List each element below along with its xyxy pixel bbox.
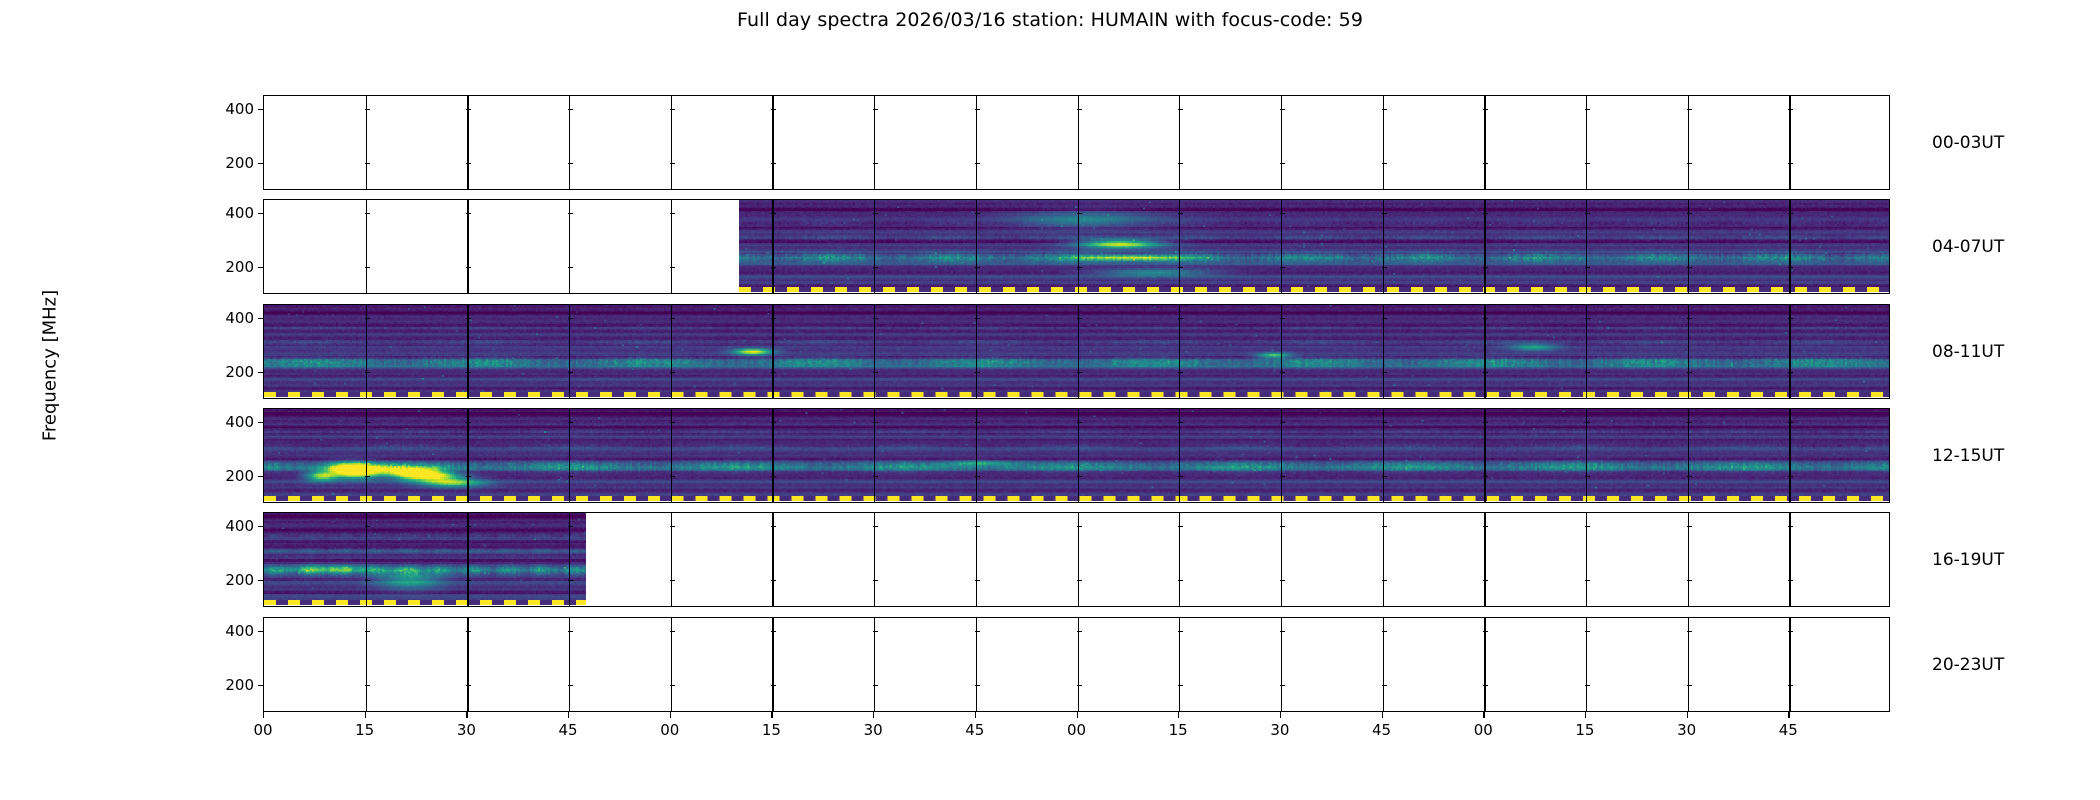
- y-tick-mark: [258, 213, 263, 214]
- x-tick-label: 30: [1677, 721, 1696, 739]
- y-tick-mark-interior: [1280, 267, 1285, 268]
- y-tick-mark-interior: [1178, 163, 1183, 164]
- subplot-divider: [976, 513, 977, 606]
- y-tick-mark-interior: [1687, 213, 1692, 214]
- subplot-divider: [772, 513, 773, 606]
- y-tick-mark-interior: [670, 213, 675, 214]
- y-tick-mark: [258, 631, 263, 632]
- y-tick-mark-interior: [1585, 109, 1590, 110]
- subplot-divider: [467, 200, 468, 293]
- subplot-divider: [1383, 200, 1384, 293]
- y-tick-mark-interior: [568, 685, 573, 686]
- y-tick-mark-interior: [568, 476, 573, 477]
- subplot-divider: [1179, 200, 1180, 293]
- y-tick-mark-interior: [1077, 422, 1082, 423]
- y-tick-mark-interior: [873, 267, 878, 268]
- subplot-divider: [1179, 513, 1180, 606]
- y-tick-mark-interior: [1178, 422, 1183, 423]
- y-tick-mark-interior: [1585, 631, 1590, 632]
- y-tick-mark-interior: [1382, 267, 1387, 268]
- y-tick-mark-interior: [365, 163, 370, 164]
- subplot-divider: [1586, 96, 1587, 189]
- y-tick-mark-interior: [1788, 685, 1793, 686]
- subplot-divider: [569, 618, 570, 711]
- y-tick-mark-interior: [1280, 476, 1285, 477]
- y-tick-mark-interior: [1382, 685, 1387, 686]
- y-tick-label: 400: [194, 517, 263, 535]
- x-tick-label: 45: [1372, 721, 1391, 739]
- y-tick-mark: [258, 318, 263, 319]
- y-tick-mark-interior: [1483, 372, 1488, 373]
- y-tick-mark-interior: [1788, 526, 1793, 527]
- subplot-divider: [1281, 513, 1282, 606]
- y-tick-mark-interior: [1382, 476, 1387, 477]
- y-tick-mark-interior: [1687, 163, 1692, 164]
- x-tick-mark: [263, 712, 264, 718]
- y-tick-mark-interior: [1382, 631, 1387, 632]
- subplot-divider: [772, 305, 773, 398]
- y-tick-mark-interior: [873, 476, 878, 477]
- subplot-divider: [1179, 96, 1180, 189]
- x-tick-mark: [1788, 712, 1789, 718]
- y-tick-mark-interior: [1585, 526, 1590, 527]
- y-tick-mark-interior: [975, 422, 980, 423]
- subplot-divider: [874, 200, 875, 293]
- subplot-divider: [366, 305, 367, 398]
- y-tick-mark-interior: [1280, 163, 1285, 164]
- subplot-divider: [1281, 618, 1282, 711]
- x-tick-label: 00: [253, 721, 272, 739]
- y-tick-mark-interior: [771, 685, 776, 686]
- y-tick-mark-interior: [771, 372, 776, 373]
- y-tick-mark-interior: [1788, 580, 1793, 581]
- subplot-divider: [1078, 305, 1079, 398]
- y-tick-mark-interior: [873, 526, 878, 527]
- y-tick-mark-interior: [1483, 631, 1488, 632]
- y-tick-mark: [258, 109, 263, 110]
- y-tick-mark-interior: [1585, 372, 1590, 373]
- y-tick-mark: [258, 580, 263, 581]
- subplot-divider: [1586, 305, 1587, 398]
- subplot-divider: [1179, 305, 1180, 398]
- y-tick-label: 400: [194, 309, 263, 327]
- y-tick-mark-interior: [1280, 580, 1285, 581]
- y-tick-mark-interior: [568, 163, 573, 164]
- y-tick-mark-interior: [771, 213, 776, 214]
- subplot-divider: [366, 200, 367, 293]
- y-tick-mark-interior: [365, 372, 370, 373]
- y-tick-mark-interior: [1280, 685, 1285, 686]
- x-tick-mark: [568, 712, 569, 718]
- y-tick-mark-interior: [1382, 526, 1387, 527]
- spectrogram-image: [264, 513, 586, 605]
- y-tick-mark-interior: [1585, 318, 1590, 319]
- y-tick-mark-interior: [1382, 213, 1387, 214]
- subplot-divider: [671, 618, 672, 711]
- y-tick-mark-interior: [365, 267, 370, 268]
- y-tick-mark-interior: [1280, 631, 1285, 632]
- y-tick-mark-interior: [1687, 580, 1692, 581]
- x-axis: 00153045001530450015304500153045: [263, 712, 1890, 752]
- y-tick-mark: [258, 267, 263, 268]
- y-tick-mark-interior: [771, 631, 776, 632]
- y-tick-mark-interior: [1382, 422, 1387, 423]
- y-tick-mark-interior: [975, 580, 980, 581]
- y-tick-mark-interior: [1483, 422, 1488, 423]
- subplot-divider: [772, 618, 773, 711]
- subplot-divider: [569, 513, 570, 606]
- y-tick-mark-interior: [1077, 267, 1082, 268]
- subplot-divider: [1789, 96, 1790, 189]
- y-tick-mark-interior: [568, 213, 573, 214]
- y-tick-mark: [258, 476, 263, 477]
- y-tick-mark-interior: [975, 476, 980, 477]
- subplot-divider: [569, 200, 570, 293]
- y-tick-mark-interior: [771, 163, 776, 164]
- y-tick-mark-interior: [1483, 685, 1488, 686]
- y-tick-mark-interior: [1178, 213, 1183, 214]
- y-tick-mark-interior: [1687, 318, 1692, 319]
- subplot-divider: [874, 618, 875, 711]
- x-tick-label: 15: [762, 721, 781, 739]
- y-tick-mark-interior: [1687, 422, 1692, 423]
- subplot-divider: [671, 409, 672, 502]
- subplot-row-16-19ut: 20040016-19UT: [263, 512, 1890, 607]
- y-tick-mark-interior: [873, 109, 878, 110]
- y-tick-mark-interior: [1585, 422, 1590, 423]
- y-tick-mark-interior: [873, 422, 878, 423]
- y-tick-mark-interior: [466, 109, 471, 110]
- y-tick-mark-interior: [975, 267, 980, 268]
- y-tick-mark-interior: [670, 685, 675, 686]
- y-tick-mark-interior: [1178, 318, 1183, 319]
- y-tick-mark-interior: [466, 631, 471, 632]
- y-tick-mark-interior: [1382, 580, 1387, 581]
- y-tick-mark-interior: [873, 163, 878, 164]
- subplot-divider: [1484, 618, 1485, 711]
- x-tick-label: 00: [660, 721, 679, 739]
- y-tick-mark-interior: [1178, 476, 1183, 477]
- y-tick-mark-interior: [1382, 372, 1387, 373]
- y-tick-mark-interior: [568, 109, 573, 110]
- subplot-divider: [1383, 513, 1384, 606]
- subplot-divider: [467, 96, 468, 189]
- y-tick-mark-interior: [466, 318, 471, 319]
- subplot-divider: [1383, 305, 1384, 398]
- y-tick-label: 200: [194, 571, 263, 589]
- y-tick-mark-interior: [771, 422, 776, 423]
- subplot-divider: [1789, 200, 1790, 293]
- y-tick-mark-interior: [568, 318, 573, 319]
- y-tick-mark-interior: [1687, 526, 1692, 527]
- subplot-row-04-07ut: 20040004-07UT: [263, 199, 1890, 294]
- y-tick-mark-interior: [873, 213, 878, 214]
- y-tick-mark-interior: [771, 318, 776, 319]
- subplot-divider: [976, 96, 977, 189]
- subplot-divider: [366, 618, 367, 711]
- subplot-divider: [1484, 200, 1485, 293]
- y-tick-mark-interior: [466, 422, 471, 423]
- x-tick-mark: [1280, 712, 1281, 718]
- subplot-divider: [1688, 96, 1689, 189]
- subplot-divider: [671, 305, 672, 398]
- subplot-divider: [1281, 96, 1282, 189]
- subplot-divider: [1586, 200, 1587, 293]
- y-tick-mark-interior: [568, 372, 573, 373]
- y-tick-mark-interior: [1280, 422, 1285, 423]
- y-tick-mark: [258, 372, 263, 373]
- subplot-divider: [1281, 200, 1282, 293]
- x-tick-label: 30: [864, 721, 883, 739]
- y-tick-label: 400: [194, 622, 263, 640]
- y-tick-label: 200: [194, 258, 263, 276]
- y-tick-mark-interior: [466, 372, 471, 373]
- subplot-divider: [366, 513, 367, 606]
- y-tick-mark-interior: [365, 213, 370, 214]
- x-tick-mark: [1483, 712, 1484, 718]
- y-axis-label: Frequency [MHz]: [40, 246, 61, 486]
- y-tick-mark-interior: [365, 318, 370, 319]
- subplot-divider: [874, 513, 875, 606]
- y-tick-mark-interior: [670, 109, 675, 110]
- y-tick-mark-interior: [670, 631, 675, 632]
- subplot-divider: [1281, 305, 1282, 398]
- subplot-divider: [1688, 513, 1689, 606]
- x-tick-label: 45: [559, 721, 578, 739]
- y-tick-mark-interior: [1687, 267, 1692, 268]
- y-tick-mark: [258, 685, 263, 686]
- y-tick-label: 200: [194, 467, 263, 485]
- x-tick-mark: [466, 712, 467, 718]
- y-tick-mark-interior: [1585, 580, 1590, 581]
- x-tick-label: 45: [1779, 721, 1798, 739]
- y-tick-mark-interior: [1483, 476, 1488, 477]
- y-tick-mark: [258, 422, 263, 423]
- y-tick-mark-interior: [975, 163, 980, 164]
- subplot-divider: [671, 200, 672, 293]
- subplot-divider: [1078, 409, 1079, 502]
- y-tick-mark-interior: [670, 580, 675, 581]
- y-tick-mark-interior: [1585, 163, 1590, 164]
- row-time-label: 16-19UT: [1932, 550, 2004, 570]
- y-tick-mark-interior: [1382, 163, 1387, 164]
- y-tick-mark-interior: [975, 685, 980, 686]
- subplot-divider: [1484, 513, 1485, 606]
- y-tick-label: 200: [194, 676, 263, 694]
- y-tick-mark-interior: [365, 526, 370, 527]
- subplot-divider: [1688, 200, 1689, 293]
- y-tick-label: 200: [194, 154, 263, 172]
- y-tick-mark-interior: [365, 580, 370, 581]
- y-tick-mark-interior: [873, 318, 878, 319]
- row-time-label: 04-07UT: [1932, 237, 2004, 257]
- subplot-divider: [1383, 618, 1384, 711]
- y-tick-mark-interior: [1788, 476, 1793, 477]
- y-tick-mark-interior: [1178, 267, 1183, 268]
- subplot-divider: [772, 200, 773, 293]
- y-tick-mark-interior: [1077, 213, 1082, 214]
- y-tick-mark-interior: [1077, 109, 1082, 110]
- x-tick-mark: [1382, 712, 1383, 718]
- figure-title: Full day spectra 2026/03/16 station: HUM…: [0, 9, 2100, 31]
- subplot-row-08-11ut: 20040008-11UT: [263, 304, 1890, 399]
- y-tick-mark-interior: [365, 631, 370, 632]
- subplot-divider: [1789, 409, 1790, 502]
- subplot-divider: [874, 305, 875, 398]
- y-tick-mark-interior: [365, 109, 370, 110]
- y-tick-mark-interior: [1280, 318, 1285, 319]
- y-tick-mark-interior: [1280, 526, 1285, 527]
- subplot-divider: [366, 96, 367, 189]
- y-tick-mark-interior: [1077, 372, 1082, 373]
- y-tick-mark-interior: [975, 631, 980, 632]
- subplot-divider: [671, 513, 672, 606]
- y-tick-mark-interior: [1483, 109, 1488, 110]
- subplot-divider: [1179, 409, 1180, 502]
- y-tick-mark-interior: [1077, 318, 1082, 319]
- y-tick-mark-interior: [466, 580, 471, 581]
- subplot-divider: [976, 618, 977, 711]
- x-tick-mark: [1077, 712, 1078, 718]
- y-tick-mark-interior: [670, 163, 675, 164]
- subplot-divider: [1078, 513, 1079, 606]
- y-tick-mark-interior: [1178, 372, 1183, 373]
- row-time-label: 08-11UT: [1932, 342, 2004, 362]
- y-tick-mark-interior: [975, 372, 980, 373]
- y-tick-mark-interior: [670, 526, 675, 527]
- y-tick-mark-interior: [1077, 476, 1082, 477]
- y-tick-mark-interior: [1788, 213, 1793, 214]
- y-tick-mark-interior: [1788, 163, 1793, 164]
- x-tick-mark: [1178, 712, 1179, 718]
- y-tick-label: 400: [194, 100, 263, 118]
- subplot-divider: [1078, 618, 1079, 711]
- subplot-divider: [1789, 305, 1790, 398]
- x-tick-mark: [1687, 712, 1688, 718]
- x-tick-label: 30: [457, 721, 476, 739]
- x-tick-mark: [1585, 712, 1586, 718]
- subplot-divider: [1281, 409, 1282, 502]
- x-tick-label: 45: [965, 721, 984, 739]
- y-tick-mark-interior: [1280, 372, 1285, 373]
- y-tick-mark-interior: [1280, 109, 1285, 110]
- x-tick-mark: [873, 712, 874, 718]
- subplot-divider: [1789, 513, 1790, 606]
- y-tick-mark-interior: [365, 476, 370, 477]
- row-time-label: 12-15UT: [1932, 446, 2004, 466]
- y-tick-mark-interior: [1483, 163, 1488, 164]
- y-tick-mark-interior: [1687, 685, 1692, 686]
- y-tick-mark-interior: [771, 267, 776, 268]
- spectrogram-figure: Full day spectra 2026/03/16 station: HUM…: [0, 0, 2100, 800]
- subplot-row-12-15ut: 20040012-15UT: [263, 408, 1890, 503]
- subplot-divider: [1688, 305, 1689, 398]
- y-tick-label: 400: [194, 204, 263, 222]
- x-tick-mark: [365, 712, 366, 718]
- y-tick-mark-interior: [1178, 685, 1183, 686]
- y-tick-mark-interior: [1585, 685, 1590, 686]
- y-tick-mark-interior: [975, 526, 980, 527]
- y-tick-mark-interior: [1687, 372, 1692, 373]
- subplot-divider: [1586, 409, 1587, 502]
- y-tick-label: 200: [194, 363, 263, 381]
- subplot-divider: [772, 409, 773, 502]
- y-tick-mark-interior: [568, 526, 573, 527]
- y-tick-mark-interior: [1788, 422, 1793, 423]
- row-time-label: 00-03UT: [1932, 133, 2004, 153]
- y-tick-mark-interior: [975, 318, 980, 319]
- spectrogram-image: [739, 200, 1890, 292]
- subplot-divider: [1688, 409, 1689, 502]
- y-tick-mark-interior: [975, 109, 980, 110]
- x-tick-label: 30: [1270, 721, 1289, 739]
- y-tick-mark-interior: [365, 685, 370, 686]
- y-tick-mark-interior: [1483, 580, 1488, 581]
- subplot-divider: [772, 96, 773, 189]
- y-tick-mark-interior: [466, 476, 471, 477]
- subplot-divider: [467, 513, 468, 606]
- x-tick-label: 00: [1067, 721, 1086, 739]
- y-tick-mark: [258, 163, 263, 164]
- subplot-divider: [1078, 200, 1079, 293]
- subplot-divider: [874, 409, 875, 502]
- subplot-divider: [569, 96, 570, 189]
- subplot-divider: [1484, 305, 1485, 398]
- subplot-divider: [874, 96, 875, 189]
- y-tick-mark-interior: [670, 267, 675, 268]
- y-tick-mark-interior: [1585, 267, 1590, 268]
- subplot-divider: [976, 305, 977, 398]
- y-tick-mark-interior: [1687, 631, 1692, 632]
- y-tick-mark-interior: [1077, 163, 1082, 164]
- subplot-row-20-23ut: 20040020-23UT: [263, 617, 1890, 712]
- y-tick-mark-interior: [1483, 526, 1488, 527]
- y-tick-mark-interior: [1178, 526, 1183, 527]
- subplot-divider: [569, 305, 570, 398]
- y-tick-mark-interior: [1585, 213, 1590, 214]
- subplot-divider: [467, 409, 468, 502]
- y-tick-mark-interior: [568, 580, 573, 581]
- subplot-divider: [671, 96, 672, 189]
- y-tick-mark-interior: [1382, 109, 1387, 110]
- subplot-divider: [1078, 96, 1079, 189]
- y-tick-mark-interior: [568, 422, 573, 423]
- y-tick-mark-interior: [1178, 109, 1183, 110]
- x-tick-label: 00: [1474, 721, 1493, 739]
- y-tick-mark-interior: [466, 163, 471, 164]
- y-tick-mark-interior: [873, 685, 878, 686]
- subplot-divider: [1179, 618, 1180, 711]
- subplot-divider: [569, 409, 570, 502]
- subplot-divider: [1383, 96, 1384, 189]
- subplot-divider: [1484, 96, 1485, 189]
- y-tick-mark-interior: [1483, 267, 1488, 268]
- y-tick-mark-interior: [1788, 372, 1793, 373]
- y-tick-mark-interior: [873, 631, 878, 632]
- x-tick-mark: [670, 712, 671, 718]
- y-tick-mark-interior: [771, 526, 776, 527]
- y-tick-mark-interior: [365, 422, 370, 423]
- y-tick-mark-interior: [670, 422, 675, 423]
- y-tick-mark-interior: [1077, 631, 1082, 632]
- y-tick-mark-interior: [873, 372, 878, 373]
- x-tick-label: 15: [1169, 721, 1188, 739]
- y-tick-mark-interior: [1077, 526, 1082, 527]
- subplot-divider: [1688, 618, 1689, 711]
- y-tick-mark-interior: [466, 526, 471, 527]
- y-tick-mark-interior: [771, 109, 776, 110]
- y-tick-mark-interior: [568, 267, 573, 268]
